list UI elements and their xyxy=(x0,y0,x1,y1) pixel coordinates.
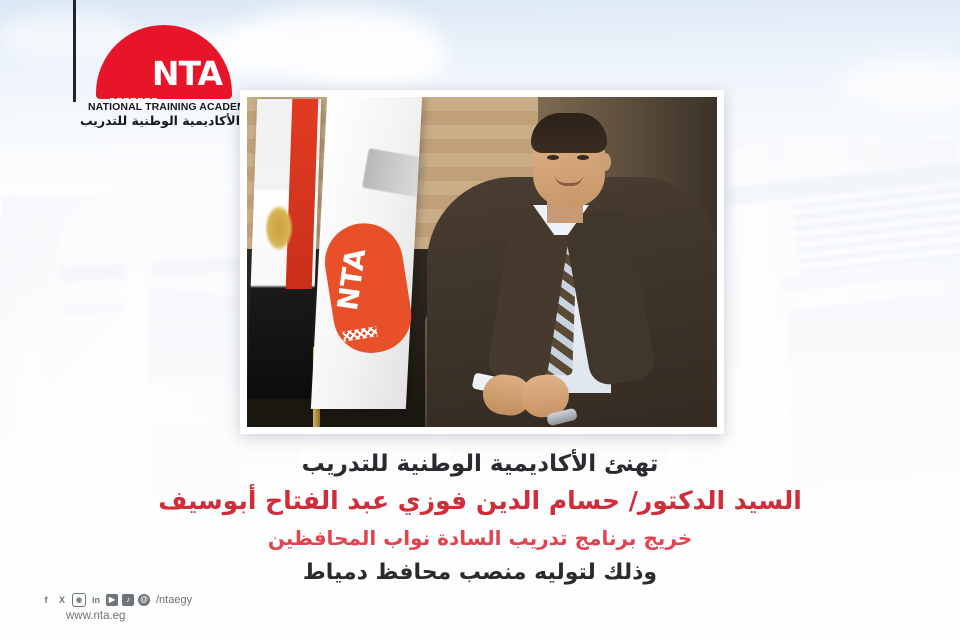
social-links: f X ◉ in ▶ ♪ @ /ntaegy xyxy=(40,593,192,607)
logo-divider-rule xyxy=(73,0,76,102)
portrait-photo-frame: NTA xyxy=(240,90,724,434)
youtube-icon[interactable]: ▶ xyxy=(106,594,118,606)
nta-logo: NTA NATIONAL TRAINING ACADEMY الأكاديمية… xyxy=(88,25,240,123)
tiktok-icon[interactable]: ♪ xyxy=(122,594,134,606)
logo-wordmark: NTA xyxy=(96,25,232,99)
person-eye-right xyxy=(577,155,589,160)
message-line-3-program: خريج برنامج تدريب السادة نواب المحافظين xyxy=(0,523,960,553)
congratulation-message: تهنئ الأكاديمية الوطنية للتدريب السيد ال… xyxy=(0,448,960,589)
message-line-1: تهنئ الأكاديمية الوطنية للتدريب xyxy=(0,448,960,481)
person-ear xyxy=(599,153,611,171)
nta-flag-wordmark: NTA xyxy=(331,246,409,317)
person-eye-left xyxy=(547,155,559,160)
portrait-photo: NTA xyxy=(247,97,717,427)
website-url[interactable]: www.nta.eg xyxy=(40,610,192,622)
social-handle[interactable]: /ntaegy xyxy=(154,594,192,606)
logo-name-ar: الأكاديمية الوطنية للتدريب xyxy=(88,113,240,128)
logo-name-en: NATIONAL TRAINING ACADEMY xyxy=(88,101,240,113)
congratulations-poster: NTA NATIONAL TRAINING ACADEMY الأكاديمية… xyxy=(0,0,960,640)
threads-icon[interactable]: @ xyxy=(138,594,150,606)
x-twitter-icon[interactable]: X xyxy=(56,594,68,606)
egypt-flag-eagle-emblem xyxy=(265,205,293,251)
message-line-2-honoree-name: السيد الدكتور/ حسام الدين فوزي عبد الفتا… xyxy=(0,483,960,519)
message-line-4-appointment: وذلك لتوليه منصب محافظ دمياط xyxy=(0,556,960,589)
person-hair xyxy=(531,113,607,153)
footer-contact-strip: f X ◉ in ▶ ♪ @ /ntaegy www.nta.eg xyxy=(40,593,192,622)
instagram-icon[interactable]: ◉ xyxy=(72,593,86,607)
linkedin-icon[interactable]: in xyxy=(90,594,102,606)
facebook-icon[interactable]: f xyxy=(40,594,52,606)
